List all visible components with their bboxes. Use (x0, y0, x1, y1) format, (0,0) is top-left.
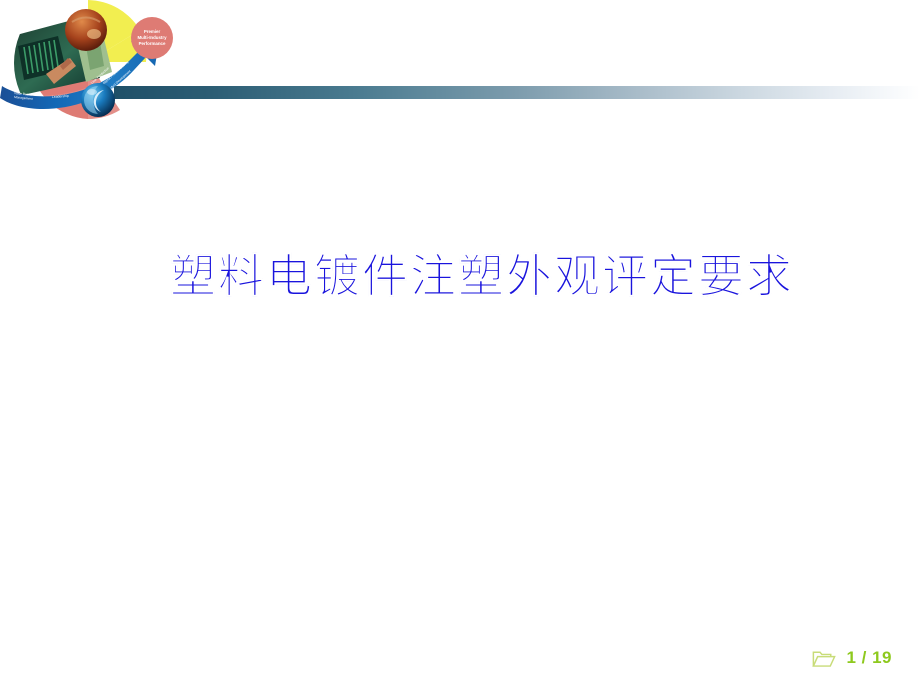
header-gradient-bar (114, 86, 920, 99)
page-title: 塑料电镀件注塑外观评定要求 (170, 240, 790, 306)
company-logo: Value Based Management Leadership Lean P… (0, 0, 178, 120)
logo-globe-icon (81, 83, 115, 117)
logo-performance-badge: Premier Multi-Industry Performance (131, 17, 173, 59)
slide-canvas: Value Based Management Leadership Lean P… (0, 0, 920, 690)
svg-text:Performance: Performance (139, 41, 166, 46)
slide-footer: 1 / 19 (812, 648, 892, 668)
svg-text:Multi-Industry: Multi-Industry (137, 35, 167, 40)
svg-text:Premier: Premier (144, 29, 161, 34)
page-number: 1 / 19 (846, 648, 892, 668)
folder-icon (812, 649, 836, 668)
logo-person-head (65, 9, 107, 51)
